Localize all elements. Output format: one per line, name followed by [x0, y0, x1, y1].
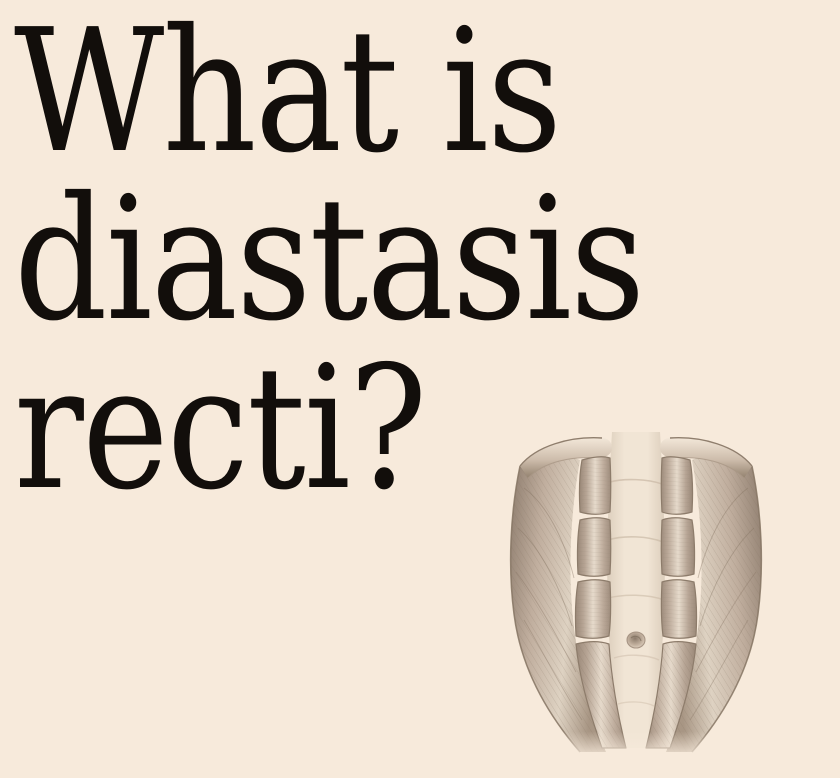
headline-line-1: What is: [14, 8, 530, 176]
headline-line-2: diastasis: [14, 176, 530, 344]
poster-canvas: What is diastasis recti?: [0, 0, 840, 778]
navel: [627, 632, 645, 648]
illustration-fade: [484, 658, 784, 760]
page-title: What is diastasis recti?: [14, 8, 614, 513]
headline-line-3: recti?: [14, 345, 530, 513]
